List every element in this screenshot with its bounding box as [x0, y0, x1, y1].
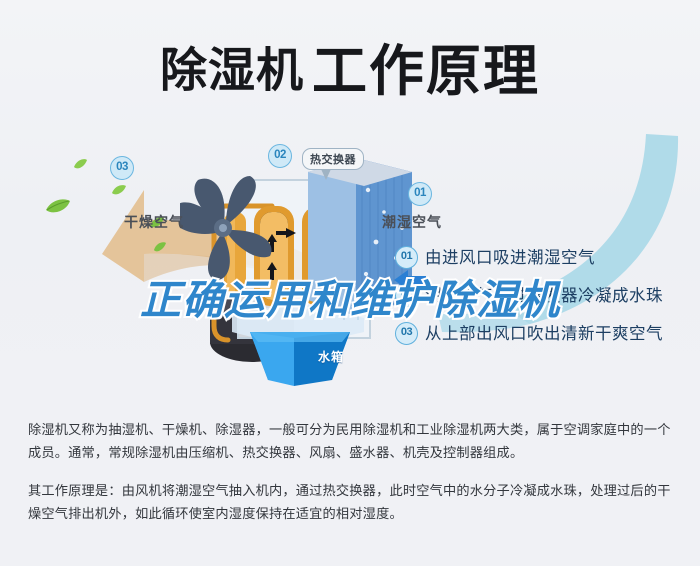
- badge-02: 02: [268, 144, 292, 168]
- label-water-tank: 水箱: [318, 348, 344, 365]
- page-title: 除湿机工作原理: [0, 26, 700, 106]
- title-part2: 工作原理: [312, 40, 540, 102]
- body-paragraph-2: 其工作原理是：由风机将潮湿空气抽入机内，通过热交换器，此时空气中的水分子冷凝成水…: [28, 479, 676, 525]
- leaf-icon: [152, 240, 167, 254]
- step-text: 由进风口吸进潮湿空气: [425, 244, 595, 268]
- badge-03: 03: [110, 156, 134, 180]
- leaf-icon: [44, 196, 72, 216]
- infographic-banner: 除湿机工作原理: [0, 0, 700, 400]
- leaf-icon: [72, 157, 88, 171]
- article-body: 除湿机又称为抽湿机、干燥机、除湿器，一般可分为民用除湿机和工业除湿机两大类，属于…: [28, 418, 676, 525]
- body-paragraph-1: 除湿机又称为抽湿机、干燥机、除湿器，一般可分为民用除湿机和工业除湿机两大类，属于…: [28, 418, 676, 464]
- page-root: 除湿机工作原理: [0, 0, 700, 566]
- overlay-headline: 正确运用和维护除湿机: [0, 266, 700, 326]
- badge-01: 01: [408, 182, 432, 206]
- leaf-icon: [110, 183, 127, 197]
- title-part1: 除湿机: [160, 44, 304, 97]
- label-dry-air: 干燥空气: [124, 212, 184, 232]
- heat-exchanger-callout: 热交换器: [302, 148, 364, 170]
- label-moist-air: 潮湿空气: [382, 212, 442, 232]
